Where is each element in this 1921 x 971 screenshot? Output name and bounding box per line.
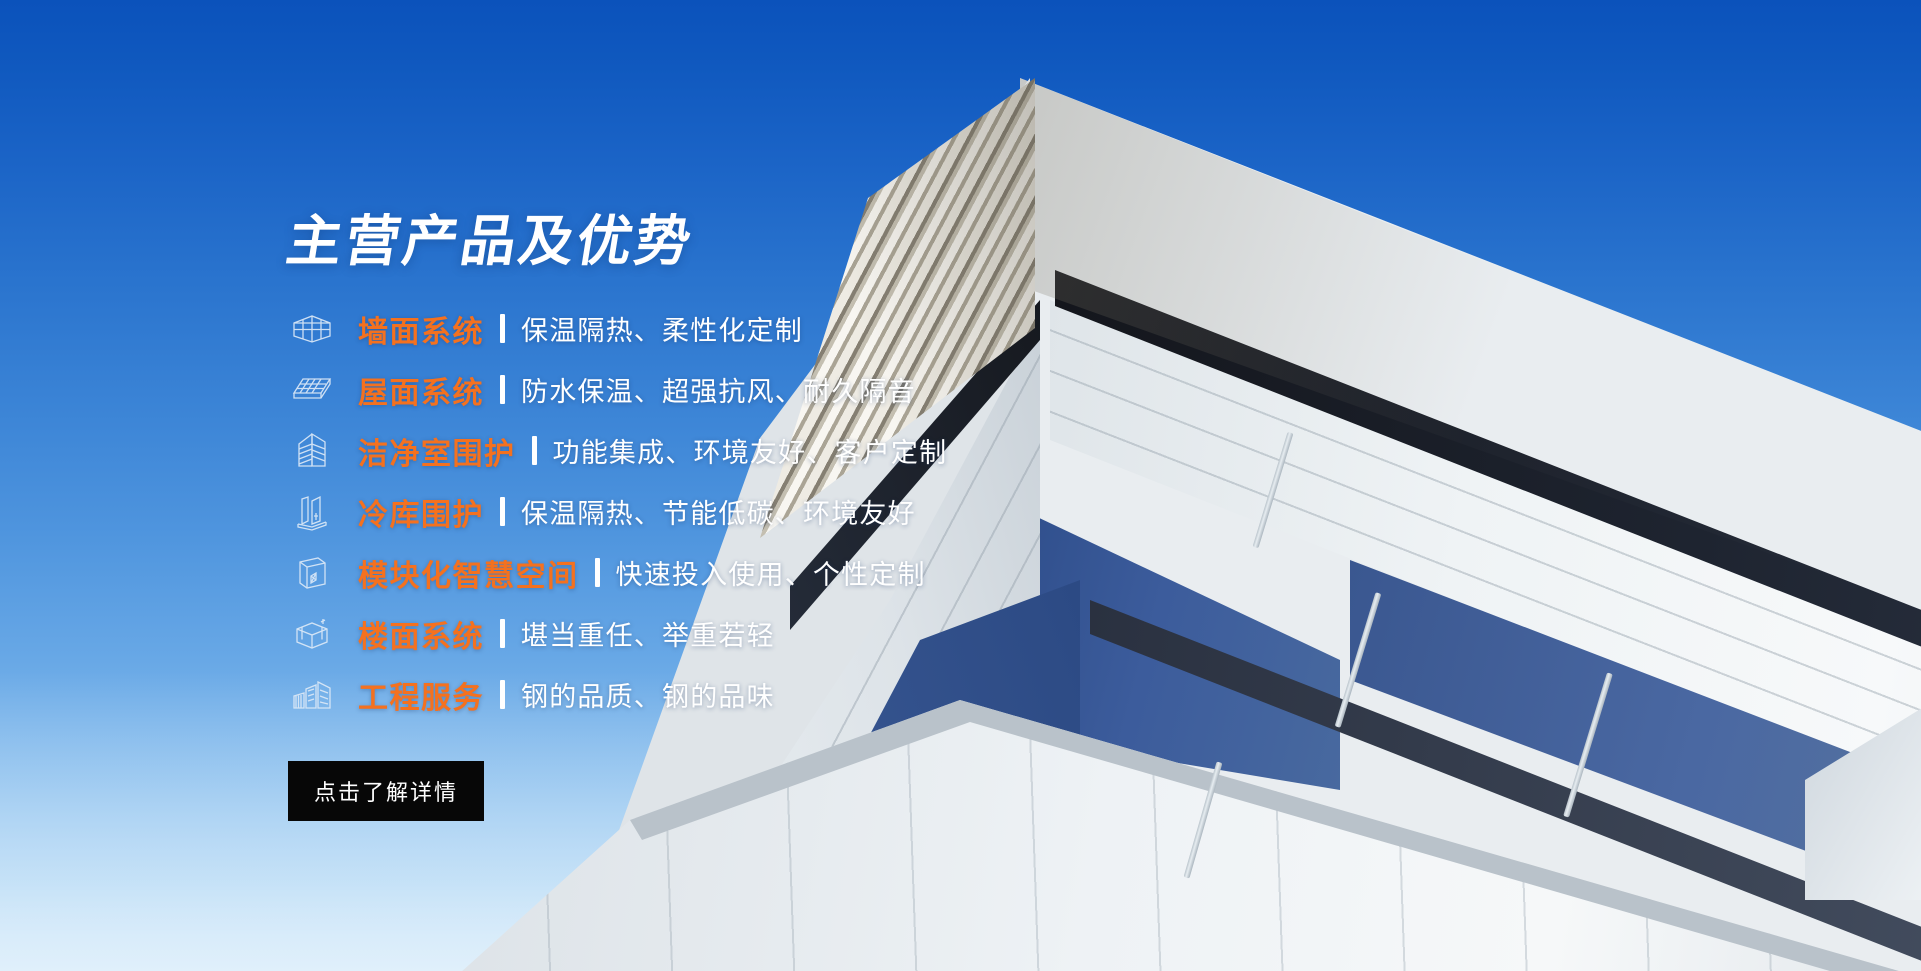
floor-deck-icon	[288, 614, 336, 654]
product-desc: 快速投入使用、个性定制	[616, 553, 926, 592]
banner-title: 主营产品及优势	[282, 196, 1295, 276]
product-name: 工程服务	[358, 673, 484, 717]
banner-content: 主营产品及优势 墙面系统 保温隔热、柔性化定制	[288, 196, 1288, 821]
product-row[interactable]: 工程服务 钢的品质、钢的品味	[288, 668, 1288, 721]
product-row[interactable]: 楼面系统 堪当重任、举重若轻	[288, 607, 1288, 660]
product-name: 模块化智慧空间	[358, 551, 579, 595]
cleanroom-icon	[288, 431, 336, 471]
product-separator	[500, 314, 505, 343]
product-name: 屋面系统	[358, 368, 484, 412]
product-separator	[500, 619, 505, 648]
wall-panel-icon	[288, 309, 336, 349]
product-desc: 功能集成、环境友好、客户定制	[553, 431, 948, 470]
product-row[interactable]: 屋面系统 防水保温、超强抗风、耐久隔音	[288, 363, 1288, 416]
product-name: 冷库围护	[358, 490, 484, 534]
product-desc: 防水保温、超强抗风、耐久隔音	[521, 370, 916, 409]
product-desc: 保温隔热、节能低碳、环境友好	[521, 492, 916, 531]
product-separator	[500, 497, 505, 526]
product-name: 楼面系统	[358, 612, 484, 656]
product-name: 洁净室围护	[358, 429, 516, 473]
product-row[interactable]: 模块化智慧空间 快速投入使用、个性定制	[288, 546, 1288, 599]
roof-panel-icon	[288, 370, 336, 410]
product-row[interactable]: 墙面系统 保温隔热、柔性化定制	[288, 302, 1288, 355]
product-separator	[532, 436, 537, 465]
product-separator	[500, 375, 505, 404]
product-row[interactable]: 冷库围护 保温隔热、节能低碳、环境友好	[288, 485, 1288, 538]
product-row[interactable]: 洁净室围护 功能集成、环境友好、客户定制	[288, 424, 1288, 477]
engineering-icon	[288, 675, 336, 715]
product-desc: 钢的品质、钢的品味	[521, 675, 775, 714]
cold-storage-icon	[288, 492, 336, 532]
product-separator	[500, 680, 505, 709]
hero-banner: 主营产品及优势 墙面系统 保温隔热、柔性化定制	[0, 0, 1921, 971]
product-name: 墙面系统	[358, 307, 484, 351]
learn-more-button[interactable]: 点击了解详情	[288, 761, 484, 821]
product-list: 墙面系统 保温隔热、柔性化定制 屋面系统 防水保温、超强抗风、耐久隔音	[288, 302, 1288, 721]
product-separator	[595, 558, 600, 587]
modular-cube-icon	[288, 553, 336, 593]
product-desc: 堪当重任、举重若轻	[521, 614, 775, 653]
product-desc: 保温隔热、柔性化定制	[521, 309, 803, 348]
